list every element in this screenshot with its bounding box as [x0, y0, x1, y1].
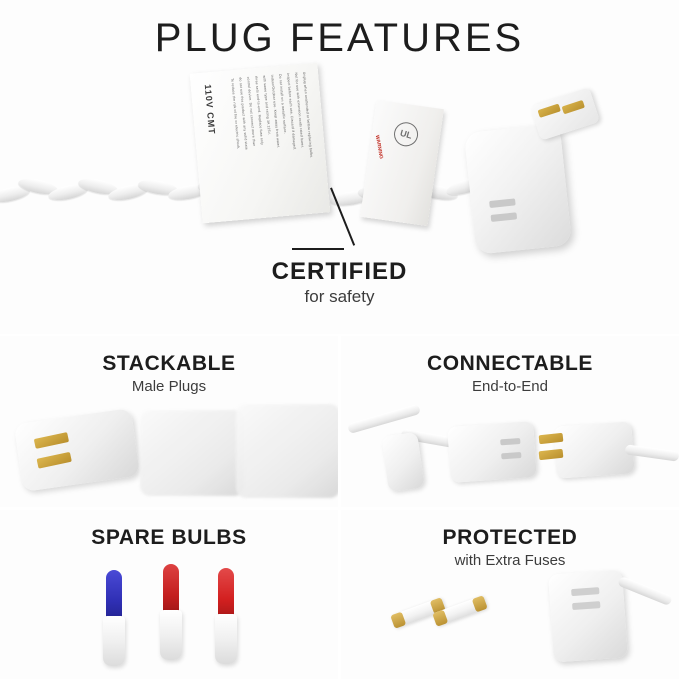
feature-caption-protected: PROTECTED with Extra Fuses	[341, 526, 679, 569]
feature-cell-spare-bulbs: SPARE BULBS	[0, 510, 338, 679]
connector-tag	[381, 432, 424, 492]
tag-voltage-label: 110V CMT	[203, 84, 217, 135]
hero-callout: CERTIFIED for safety	[0, 258, 679, 307]
female-plug-body	[464, 123, 572, 254]
feature-heading: PROTECTED	[341, 526, 679, 550]
feature-cell-connectable: CONNECTABLE End-to-End	[341, 336, 679, 507]
fuse-plug-wire	[617, 576, 673, 606]
spare-bulb-red-2	[215, 568, 237, 664]
blurred-plug-art	[236, 404, 338, 498]
warning-label: WARNING	[374, 135, 384, 160]
grid-horizontal-divider	[0, 507, 679, 510]
feature-caption-spare-bulbs: SPARE BULBS	[0, 526, 338, 552]
feature-caption-connectable: CONNECTABLE End-to-End	[341, 352, 679, 395]
male-prong-head	[530, 87, 600, 140]
spare-bulb-blue	[103, 570, 125, 666]
page-title: PLUG FEATURES	[0, 16, 679, 61]
feature-sub: End-to-End	[341, 378, 679, 395]
feature-heading: STACKABLE	[0, 352, 338, 376]
hero-panel: PLUG FEATURES 110V CMT To reduce the ris	[0, 0, 679, 336]
product-safety-tag: 110V CMT To reduce the risk of fire or e…	[190, 63, 331, 224]
feature-sub: Male Plugs	[0, 378, 338, 395]
male-connector	[553, 421, 634, 478]
male-plug-art	[14, 408, 140, 492]
female-connector	[447, 421, 537, 483]
blurred-plug-art	[140, 410, 244, 496]
feature-heading: CONNECTABLE	[341, 352, 679, 376]
feature-cell-stackable: STACKABLE Male Plugs	[0, 336, 338, 507]
spare-bulb-red	[160, 564, 182, 660]
feature-grid: STACKABLE Male Plugs CONNECTABLE End-to-…	[0, 336, 679, 679]
feature-sub: with Extra Fuses	[341, 552, 679, 569]
ul-certification-icon: UL	[391, 119, 421, 149]
feature-cell-protected: PROTECTED with Extra Fuses	[341, 510, 679, 679]
hero-callout-sub: for safety	[0, 287, 679, 307]
fuse-holder-plug	[548, 570, 628, 663]
plug-features-infographic: PLUG FEATURES 110V CMT To reduce the ris	[0, 0, 679, 679]
hero-callout-heading: CERTIFIED	[0, 258, 679, 286]
feature-heading: SPARE BULBS	[0, 526, 338, 550]
feature-caption-stackable: STACKABLE Male Plugs	[0, 352, 338, 395]
callout-underline	[292, 248, 344, 250]
